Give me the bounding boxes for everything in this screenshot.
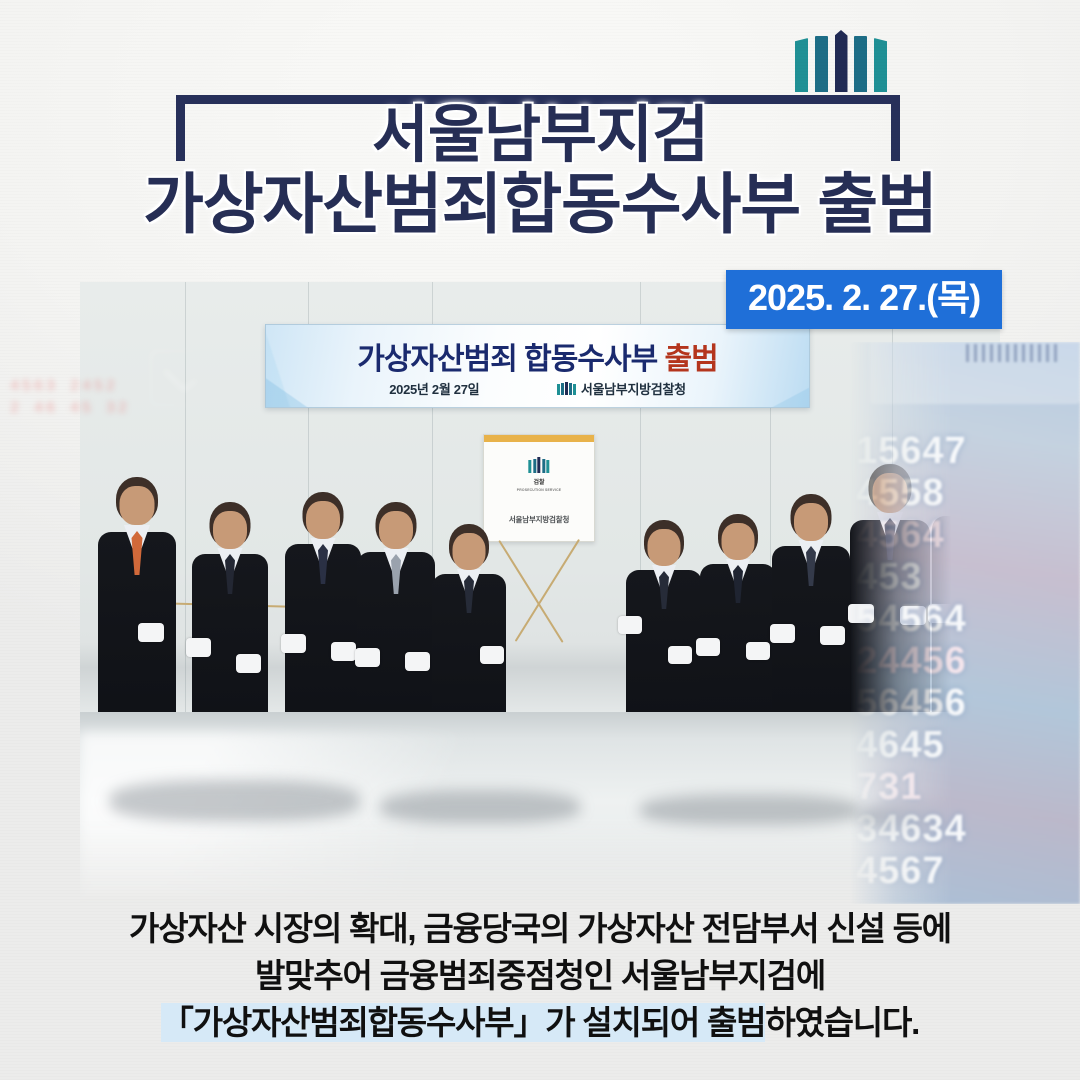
ticker-number: 15647 <box>856 430 1080 472</box>
page-title-line-1: 서울남부지검 <box>0 104 1080 167</box>
logo-bar-1 <box>795 38 808 92</box>
person-glove <box>331 642 356 661</box>
ribbon-cord <box>515 539 580 642</box>
ticker-number: 24456 <box>856 640 1080 682</box>
caption-line-3-rest: 하였습니다. <box>765 1004 919 1041</box>
ticker-number: 4567 <box>856 850 1080 892</box>
banner-org-wrap: 서울남부지방검찰청 <box>557 379 685 398</box>
ceremony-photo: 가상자산범죄 합동수사부 출범 2025년 2월 27일 서울남부지방검찰청 검… <box>0 282 1080 904</box>
banner-org: 서울남부지방검찰청 <box>581 379 686 398</box>
ticker-number: 34634 <box>856 808 1080 850</box>
banner-title-main: 가상자산범죄 합동수사부 <box>357 343 664 376</box>
photo-overlay-right-ticker: 15647 4558 4564 453 54564 24456 56456 46… <box>850 342 1080 904</box>
banner-date: 2025년 2월 27일 <box>389 379 479 398</box>
ticker-number: 56456 <box>856 682 1080 724</box>
person-glove <box>770 624 795 643</box>
ticker-number: 731 <box>856 766 1080 808</box>
logo-bar-3 <box>835 30 848 92</box>
page-title: 서울남부지검 가상자산범죄합동수사부 출범 <box>0 104 1080 239</box>
logo-bar-2 <box>815 36 828 92</box>
person-glove <box>281 634 306 653</box>
banner-mini-logo-icon <box>557 382 576 395</box>
person-glove <box>746 642 770 660</box>
person-face <box>453 533 486 570</box>
ticker-number: 4558 <box>856 472 1080 514</box>
plaque-emblem-label: 검찰PROSECUTION SERVICE <box>484 477 594 492</box>
date-badge: 2025. 2. 27.(목) <box>726 270 1002 329</box>
ticker-number: 54564 <box>856 598 1080 640</box>
person-glove <box>355 648 380 667</box>
ticker-number: 4564 <box>856 514 1080 556</box>
ceremony-banner: 가상자산범죄 합동수사부 출범 2025년 2월 27일 서울남부지방검찰청 <box>265 324 810 408</box>
person-glove <box>820 626 845 645</box>
banner-subline: 2025년 2월 27일 서울남부지방검찰청 <box>266 379 809 398</box>
caption-line-2: 발맞추어 금융범죄중점청인 서울남부지검에 <box>0 953 1080 1000</box>
plaque-logo-icon <box>528 457 549 473</box>
person-glove <box>696 638 720 656</box>
overlay-ticker-line: 2 46 45 32 <box>10 398 240 420</box>
person-glove <box>480 646 504 664</box>
banner-title-accent: 출범 <box>665 343 718 376</box>
caption-highlight: 「가상자산범죄합동수사부」가 설치되어 출범 <box>161 1003 765 1042</box>
logo-bar-4 <box>854 36 867 92</box>
ribbon-cord <box>498 540 563 643</box>
person-glove <box>618 616 642 634</box>
photo-overlay-left-bokeh: 4563 2452 2 46 45 32 <box>0 330 270 904</box>
person-face <box>306 501 340 539</box>
floor-shadow <box>380 790 580 824</box>
floor-shadow <box>640 794 860 826</box>
person-face <box>648 529 681 566</box>
caption-text: 가상자산 시장의 확대, 금융당국의 가상자산 전담부서 신설 등에 발맞추어 … <box>0 906 1080 1047</box>
caption-line-3: 「가상자산범죄합동수사부」가 설치되어 출범하였습니다. <box>0 1000 1080 1047</box>
person-glove <box>668 646 692 664</box>
logo-bar-5 <box>874 38 887 92</box>
person-face <box>722 523 755 560</box>
person-face <box>379 511 413 549</box>
ticker-number: 4645 <box>856 724 1080 766</box>
overlay-left-ticker: 4563 2452 2 46 45 32 <box>10 376 240 420</box>
plaque-emblem-text: 검찰 <box>533 480 544 486</box>
ticker-number: 453 <box>856 556 1080 598</box>
poster-card: 서울남부지검 가상자산범죄합동수사부 출범 가상자산범죄 합동수사부 출범 20… <box>0 0 1080 1080</box>
person-face <box>794 503 828 541</box>
caption-line-1: 가상자산 시장의 확대, 금융당국의 가상자산 전담부서 신설 등에 <box>0 906 1080 953</box>
page-title-line-2: 가상자산범죄합동수사부 출범 <box>0 171 1080 238</box>
overlay-right-topbar <box>870 342 1080 404</box>
person-glove <box>405 652 430 671</box>
banner-title: 가상자산범죄 합동수사부 출범 <box>266 334 809 378</box>
overlay-ticker-line: 4563 2452 <box>10 376 240 398</box>
overlay-right-numbers: 15647 4558 4564 453 54564 24456 56456 46… <box>856 430 1080 892</box>
prosecution-bars-logo-icon <box>795 30 887 92</box>
plaque-emblem-sub: PROSECUTION SERVICE <box>484 488 594 492</box>
plaque-ribbon <box>484 435 594 442</box>
